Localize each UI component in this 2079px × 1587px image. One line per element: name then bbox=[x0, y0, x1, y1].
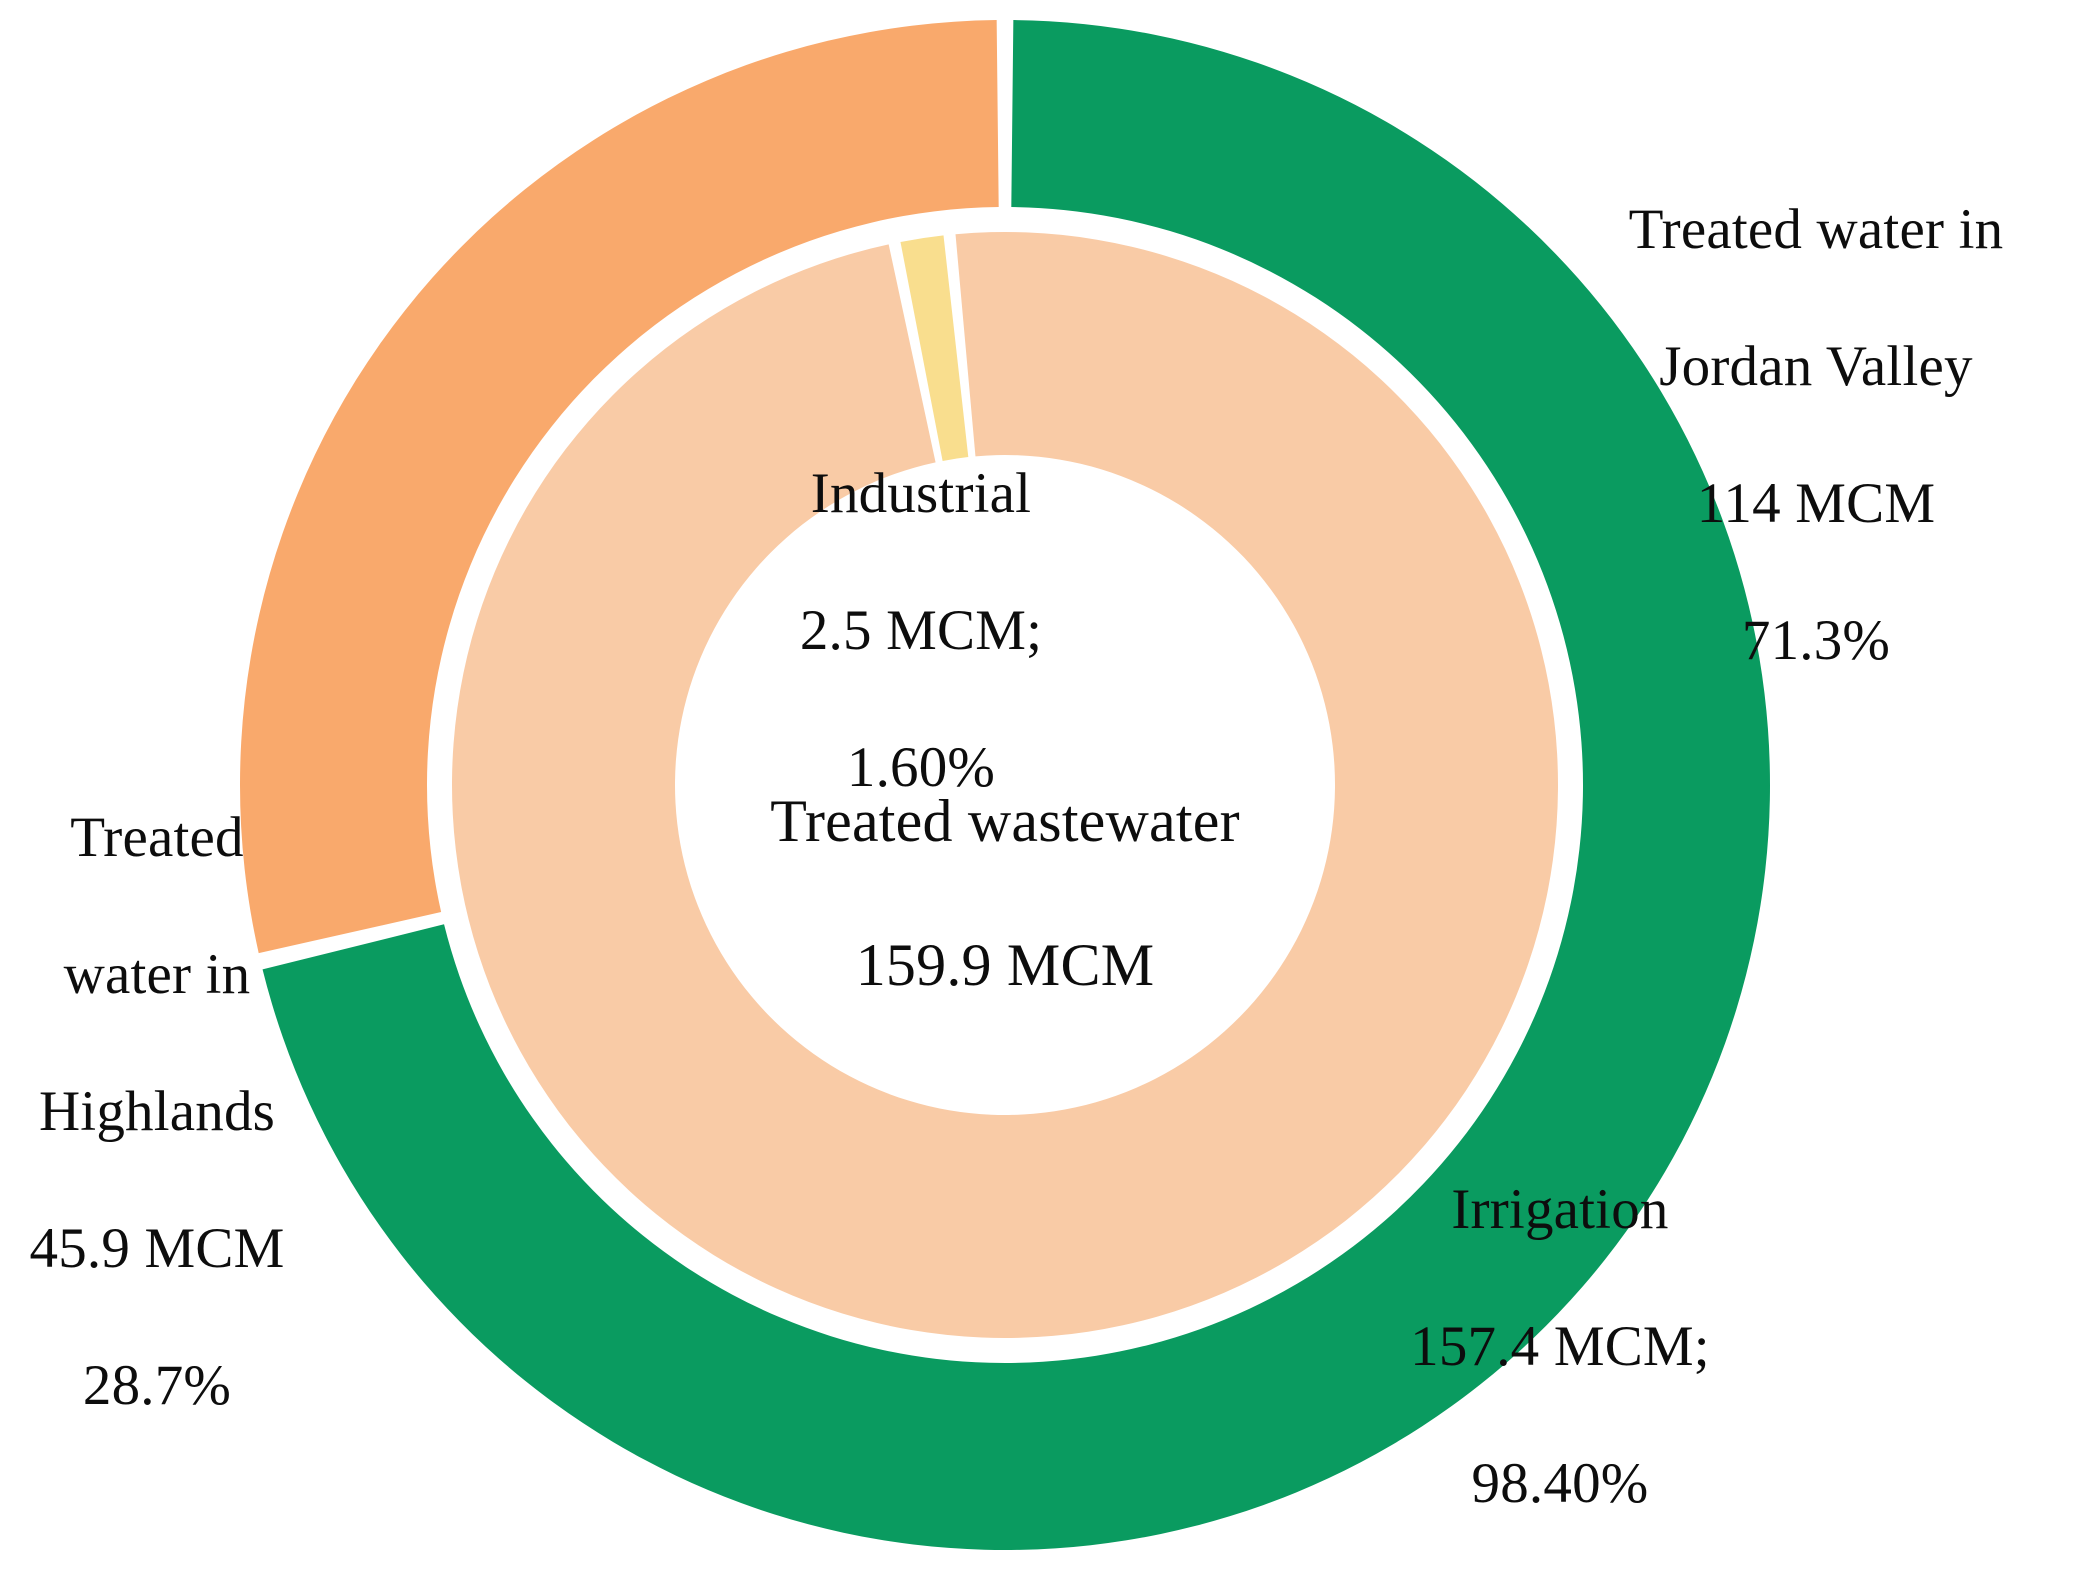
label-highlands-line5: 28.7% bbox=[0, 1352, 322, 1420]
label-irrigation-line3: 98.40% bbox=[1340, 1450, 1780, 1518]
label-highlands: Treated water in Highlands 45.9 MCM 28.7… bbox=[0, 736, 322, 1488]
label-center-line2: 159.9 MCM bbox=[610, 929, 1400, 1001]
label-irrigation: Irrigation 157.4 MCM; 98.40% bbox=[1340, 1108, 1780, 1587]
label-irrigation-line2: 157.4 MCM; bbox=[1340, 1313, 1780, 1381]
label-center-line1: Treated wastewater bbox=[610, 785, 1400, 857]
label-jordan-valley-line2: Jordan Valley bbox=[1556, 333, 2076, 401]
label-center-total: Treated wastewater 159.9 MCM bbox=[610, 713, 1400, 1073]
label-highlands-line2: water in bbox=[0, 941, 322, 1009]
label-highlands-line4: 45.9 MCM bbox=[0, 1215, 322, 1283]
label-highlands-line1: Treated bbox=[0, 804, 322, 872]
label-jordan-valley-line4: 71.3% bbox=[1556, 607, 2076, 675]
label-jordan-valley-line3: 114 MCM bbox=[1556, 470, 2076, 538]
label-highlands-line3: Highlands bbox=[0, 1078, 322, 1146]
label-jordan-valley-line1: Treated water in bbox=[1556, 196, 2076, 264]
label-irrigation-line1: Irrigation bbox=[1340, 1176, 1780, 1244]
label-jordan-valley: Treated water in Jordan Valley 114 MCM 7… bbox=[1556, 128, 2076, 744]
donut-chart: Treated water in Jordan Valley 114 MCM 7… bbox=[0, 0, 2079, 1571]
label-industrial-line1: Industrial bbox=[746, 460, 1096, 528]
label-industrial-line2: 2.5 MCM; bbox=[746, 597, 1096, 665]
